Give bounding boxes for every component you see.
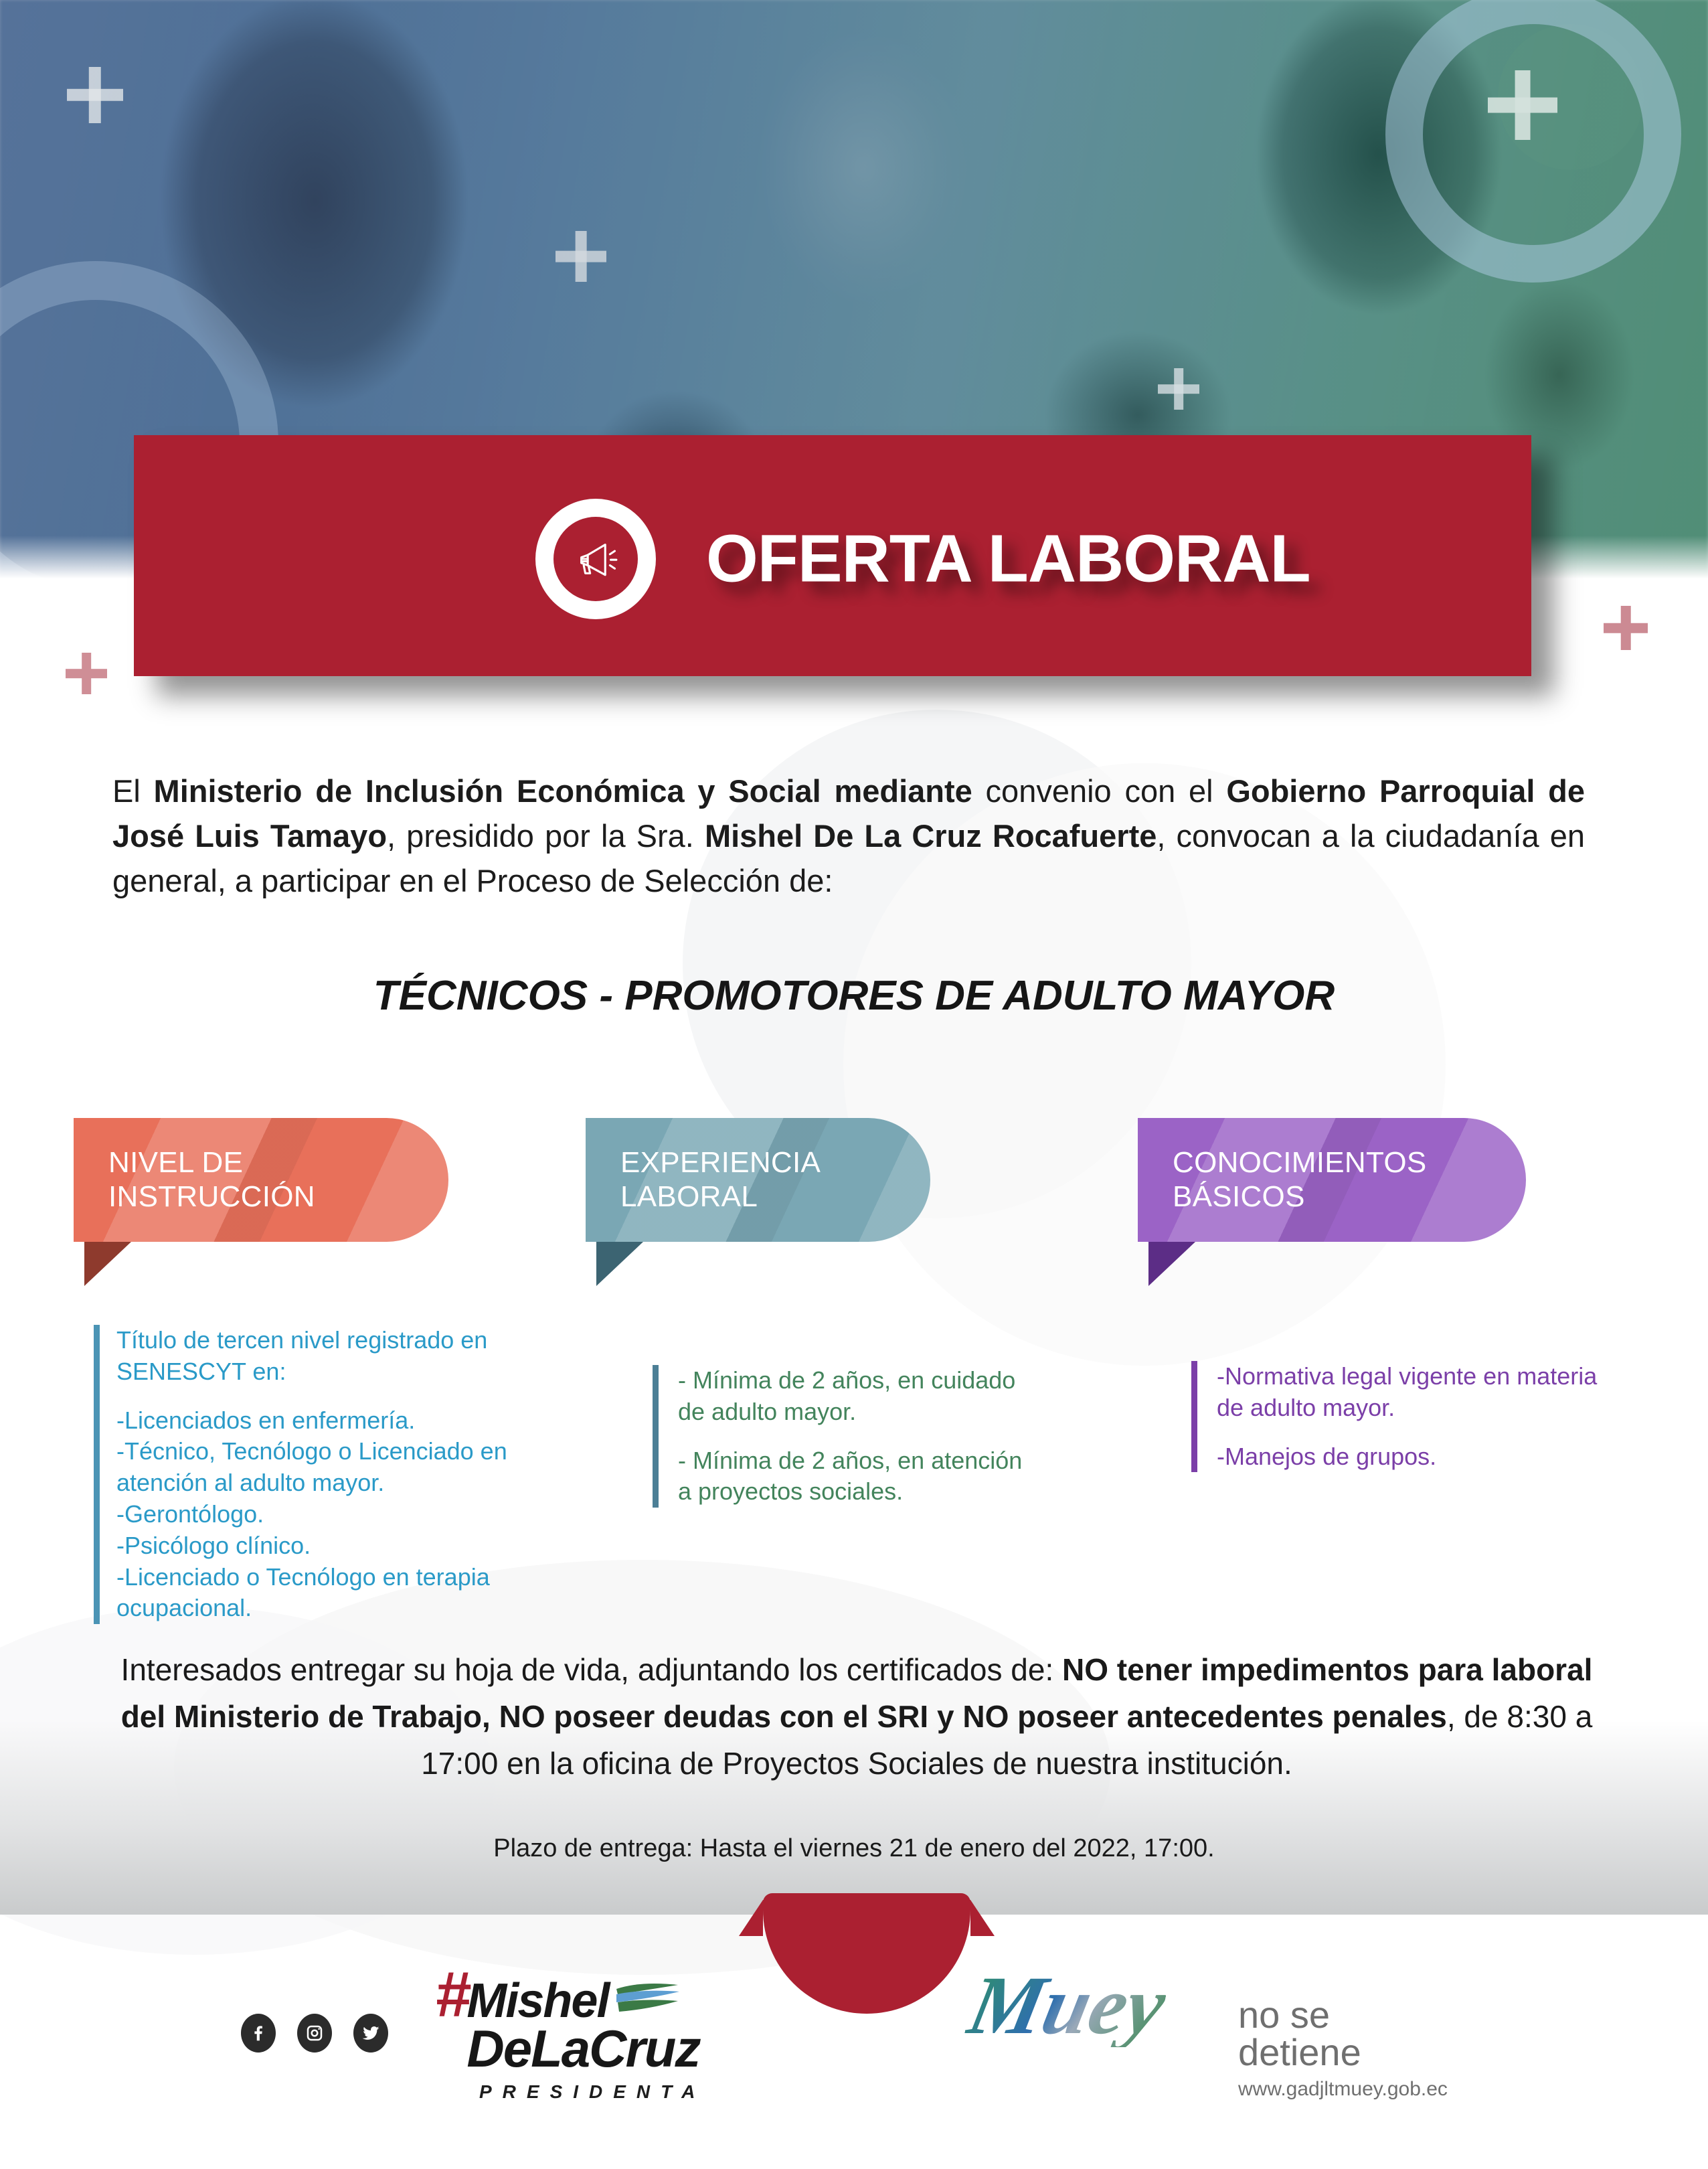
megaphone-icon bbox=[553, 517, 638, 601]
column-heading: EXPERIENCIA LABORAL bbox=[586, 1146, 821, 1213]
column-body: - Mínima de 2 años, en cuidado de adulto… bbox=[586, 1365, 1041, 1508]
megaphone-badge bbox=[535, 499, 656, 619]
column-nivel-de-instruccion: NIVEL DE INSTRUCCIÓN Título de tercen ni… bbox=[74, 1118, 515, 1624]
title-banner: OFERTA LABORAL bbox=[134, 435, 1539, 683]
logo-name-line-2: DeLaCruz bbox=[466, 2025, 699, 2072]
instagram-glyph bbox=[305, 2023, 325, 2043]
column-experiencia-laboral: EXPERIENCIA LABORAL - Mínima de 2 años, … bbox=[586, 1118, 1041, 1508]
heading-line-1: EXPERIENCIA bbox=[620, 1146, 821, 1179]
column-heading: NIVEL DE INSTRUCCIÓN bbox=[74, 1146, 315, 1213]
accent-bar bbox=[653, 1365, 659, 1508]
role-title: TÉCNICOS - PROMOTORES DE ADULTO MAYOR bbox=[0, 972, 1708, 1020]
heading-line-2: BÁSICOS bbox=[1173, 1180, 1305, 1213]
column-item: -Licenciados en enfermería. -Técnico, Te… bbox=[116, 1405, 515, 1625]
instagram-icon[interactable] bbox=[297, 2014, 332, 2053]
column-header-tag: EXPERIENCIA LABORAL bbox=[586, 1118, 930, 1242]
heading-line-2: LABORAL bbox=[620, 1180, 758, 1213]
text-run: Mishel De La Cruz Rocafuerte bbox=[705, 818, 1157, 854]
column-item: -Normativa legal vigente en materia de a… bbox=[1217, 1361, 1620, 1424]
requirements-columns: NIVEL DE INSTRUCCIÓN Título de tercen ni… bbox=[0, 1118, 1708, 1600]
intro-paragraph: El Ministerio de Inclusión Económica y S… bbox=[112, 769, 1585, 904]
column-header-tag: NIVEL DE INSTRUCCIÓN bbox=[74, 1118, 448, 1242]
social-links bbox=[241, 2014, 388, 2053]
plus-icon bbox=[556, 231, 606, 282]
text-run: Ministerio de Inclusión Económica y Soci… bbox=[154, 773, 972, 809]
banner-title: OFERTA LABORAL bbox=[706, 521, 1310, 598]
column-conocimientos-basicos: CONOCIMIENTOS BÁSICOS -Normativa legal v… bbox=[1138, 1118, 1620, 1472]
accent-bar bbox=[1191, 1361, 1197, 1472]
job-offer-poster: OFERTA LABORAL El Ministerio de Inclusió… bbox=[0, 0, 1708, 2169]
text-run: , presidido por la Sra. bbox=[387, 818, 705, 854]
megaphone-glyph bbox=[570, 534, 621, 584]
text-run: Interesados entregar su hoja de vida, ad… bbox=[121, 1652, 1062, 1687]
brush-stroke-icon bbox=[614, 1980, 681, 2017]
outro-paragraph: Interesados entregar su hoja de vida, ad… bbox=[100, 1647, 1613, 1787]
column-item: - Mínima de 2 años, en atención a proyec… bbox=[678, 1445, 1041, 1508]
deadline-text: Plazo de entrega: Hasta el viernes 21 de… bbox=[0, 1834, 1708, 1863]
column-body: -Normativa legal vigente en materia de a… bbox=[1138, 1361, 1620, 1472]
logo-name-line-1: Mishel bbox=[466, 1981, 608, 2022]
plus-icon bbox=[1604, 606, 1648, 650]
twitter-icon[interactable] bbox=[353, 2014, 388, 2053]
heading-line-1: NIVEL DE bbox=[108, 1146, 243, 1179]
muey-tagline-block: no se detiene www.gadjltmuey.gob.ec bbox=[1238, 1996, 1448, 2101]
column-body: Título de tercen nivel registrado en SEN… bbox=[74, 1325, 515, 1624]
logo-subtitle: PRESIDENTA bbox=[479, 2081, 716, 2103]
muey-logo: Muey no se detiene www.gadjltmuey.gob.ec bbox=[970, 1964, 1164, 2047]
twitter-glyph bbox=[361, 2023, 381, 2043]
tag-tail bbox=[84, 1242, 131, 1286]
muey-wordmark: Muey bbox=[962, 1964, 1173, 2047]
text-run: convenio con el bbox=[972, 773, 1227, 809]
mishel-delacruz-logo: # Mishel # DeLaCruz PRESIDENTA bbox=[435, 1968, 716, 2103]
column-item: - Mínima de 2 años, en cuidado de adulto… bbox=[678, 1365, 1041, 1428]
tag-tail bbox=[596, 1242, 643, 1286]
facebook-icon[interactable] bbox=[241, 2014, 276, 2053]
plus-icon bbox=[67, 67, 123, 123]
tag-tail bbox=[1148, 1242, 1195, 1286]
text-run: El bbox=[112, 773, 154, 809]
plus-icon bbox=[66, 653, 107, 694]
column-item: -Manejos de grupos. bbox=[1217, 1441, 1620, 1473]
brush-glyph bbox=[614, 1980, 681, 2017]
muey-url: www.gadjltmuey.gob.ec bbox=[1238, 2078, 1448, 2101]
muey-slogan: no se detiene bbox=[1238, 1996, 1448, 2071]
heading-line-2: INSTRUCCIÓN bbox=[108, 1180, 315, 1213]
column-item: Título de tercen nivel registrado en SEN… bbox=[116, 1325, 515, 1388]
plus-icon bbox=[1158, 368, 1199, 410]
hash-symbol: # bbox=[435, 1968, 466, 2022]
column-header-tag: CONOCIMIENTOS BÁSICOS bbox=[1138, 1118, 1526, 1242]
plus-icon bbox=[1488, 70, 1557, 140]
heading-line-1: CONOCIMIENTOS bbox=[1173, 1146, 1427, 1179]
facebook-glyph bbox=[248, 2023, 268, 2043]
decorative-ring-top-right bbox=[1385, 0, 1681, 283]
column-heading: CONOCIMIENTOS BÁSICOS bbox=[1138, 1146, 1427, 1213]
accent-bar bbox=[94, 1325, 100, 1624]
footer: # Mishel # DeLaCruz PRESIDENTA Muey no bbox=[0, 1961, 1708, 2169]
